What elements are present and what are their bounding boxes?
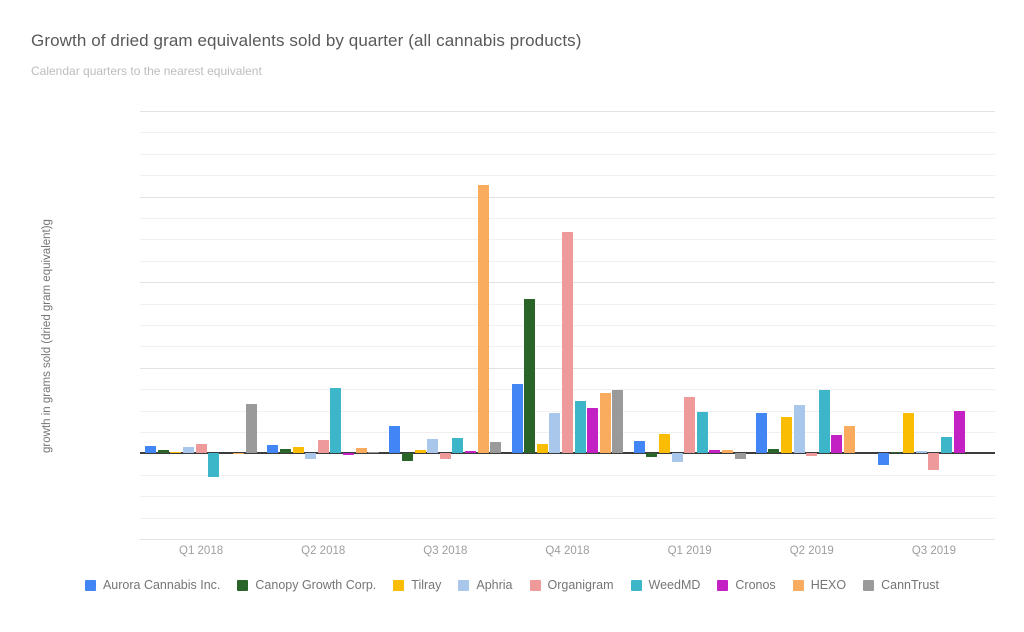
bar[interactable] [672, 453, 683, 462]
bar-group-bars [751, 111, 873, 539]
bar[interactable] [768, 449, 779, 453]
legend-item[interactable]: CannTrust [863, 578, 939, 592]
bar-group-bars [262, 111, 384, 539]
x-axis-tick-label: Q3 2018 [423, 545, 467, 557]
legend-swatch-icon [717, 580, 728, 591]
bar[interactable] [512, 384, 523, 453]
bar[interactable] [878, 453, 889, 465]
bar[interactable] [427, 439, 438, 454]
bar[interactable] [575, 401, 586, 454]
bar[interactable] [891, 452, 902, 454]
bar[interactable] [954, 411, 965, 453]
bar[interactable] [293, 447, 304, 453]
legend-item[interactable]: Canopy Growth Corp. [237, 578, 376, 592]
legend-item[interactable]: Aphria [458, 578, 512, 592]
bar-group-bars [629, 111, 751, 539]
legend-swatch-icon [85, 580, 96, 591]
chart-subtitle: Calendar quarters to the nearest equival… [31, 64, 262, 78]
bar[interactable] [208, 453, 219, 477]
bar[interactable] [903, 413, 914, 454]
x-axis-tick-label: Q4 2018 [545, 545, 589, 557]
bar[interactable] [465, 451, 476, 454]
bar[interactable] [928, 453, 939, 469]
bar[interactable] [233, 453, 244, 454]
bar-group: Q3 2019 [873, 111, 995, 539]
legend-item[interactable]: Organigram [530, 578, 614, 592]
chart-title: Growth of dried gram equivalents sold by… [31, 31, 582, 51]
bar[interactable] [343, 453, 354, 455]
gridline [140, 539, 995, 540]
bar[interactable] [612, 390, 623, 453]
bar[interactable] [735, 453, 746, 459]
bar[interactable] [634, 441, 645, 454]
bar-group: Q2 2018 [262, 111, 384, 539]
bar[interactable] [794, 405, 805, 453]
bar-group: Q1 2019 [629, 111, 751, 539]
legend-item[interactable]: Aurora Cannabis Inc. [85, 578, 220, 592]
bar[interactable] [587, 408, 598, 453]
bar-group: Q2 2019 [751, 111, 873, 539]
bar-group: Q4 2018 [506, 111, 628, 539]
bar[interactable] [941, 437, 952, 453]
bar[interactable] [781, 417, 792, 453]
legend-label: Cronos [735, 578, 775, 592]
bar[interactable] [196, 444, 207, 454]
bar[interactable] [389, 426, 400, 454]
bar[interactable] [158, 450, 169, 454]
bar[interactable] [756, 413, 767, 454]
bar[interactable] [478, 185, 489, 454]
y-axis-title: growth in grams sold (dried gram equival… [41, 171, 53, 501]
plot-area: 800.00%600.00%400.00%200.00%0.00%-200.00… [140, 111, 995, 539]
x-axis-tick-label: Q2 2019 [790, 545, 834, 557]
x-axis-tick-label: Q2 2018 [301, 545, 345, 557]
legend-swatch-icon [863, 580, 874, 591]
bar[interactable] [831, 435, 842, 453]
legend-swatch-icon [793, 580, 804, 591]
bar-group-bars [873, 111, 995, 539]
bar[interactable] [452, 438, 463, 453]
chart-container: Growth of dried gram equivalents sold by… [0, 0, 1024, 632]
chart-legend: Aurora Cannabis Inc.Canopy Growth Corp.T… [0, 578, 1024, 592]
legend-swatch-icon [393, 580, 404, 591]
legend-label: Canopy Growth Corp. [255, 578, 376, 592]
bar[interactable] [356, 448, 367, 453]
legend-swatch-icon [458, 580, 469, 591]
bar[interactable] [490, 442, 501, 454]
legend-label: Organigram [548, 578, 614, 592]
bar[interactable] [318, 440, 329, 454]
bar[interactable] [440, 453, 451, 459]
bar[interactable] [600, 393, 611, 453]
bar[interactable] [170, 452, 181, 453]
bar[interactable] [916, 451, 927, 454]
bar[interactable] [709, 450, 720, 453]
x-axis-tick-label: Q3 2019 [912, 545, 956, 557]
bar[interactable] [246, 404, 257, 454]
bar-group: Q1 2018 [140, 111, 262, 539]
legend-swatch-icon [237, 580, 248, 591]
bar-group: Q3 2018 [384, 111, 506, 539]
legend-swatch-icon [530, 580, 541, 591]
legend-label: Aphria [476, 578, 512, 592]
legend-label: WeedMD [649, 578, 701, 592]
bar[interactable] [280, 449, 291, 453]
bar[interactable] [368, 452, 379, 454]
bar[interactable] [402, 453, 413, 460]
bar[interactable] [183, 447, 194, 453]
bar[interactable] [305, 453, 316, 458]
bar-group-bars [140, 111, 262, 539]
bar[interactable] [806, 453, 817, 456]
bar[interactable] [415, 450, 426, 453]
bar[interactable] [722, 450, 733, 454]
legend-item[interactable]: Cronos [717, 578, 775, 592]
bar[interactable] [537, 444, 548, 453]
bar[interactable] [330, 388, 341, 453]
bar[interactable] [819, 390, 830, 453]
legend-item[interactable]: WeedMD [631, 578, 701, 592]
bar[interactable] [697, 412, 708, 453]
bar-group-bars [384, 111, 506, 539]
bar[interactable] [684, 397, 695, 453]
legend-label: Aurora Cannabis Inc. [103, 578, 220, 592]
legend-label: CannTrust [881, 578, 939, 592]
x-axis-tick-label: Q1 2019 [668, 545, 712, 557]
bar[interactable] [646, 453, 657, 457]
bar[interactable] [524, 299, 535, 453]
bar[interactable] [659, 434, 670, 453]
legend-label: HEXO [811, 578, 846, 592]
x-axis-tick-label: Q1 2018 [179, 545, 223, 557]
bar[interactable] [844, 426, 855, 454]
bar-group-bars [506, 111, 628, 539]
bar[interactable] [267, 445, 278, 453]
bar[interactable] [562, 232, 573, 454]
bar[interactable] [549, 413, 560, 454]
legend-item[interactable]: HEXO [793, 578, 846, 592]
legend-label: Tilray [411, 578, 441, 592]
legend-swatch-icon [631, 580, 642, 591]
bar[interactable] [145, 446, 156, 453]
legend-item[interactable]: Tilray [393, 578, 441, 592]
